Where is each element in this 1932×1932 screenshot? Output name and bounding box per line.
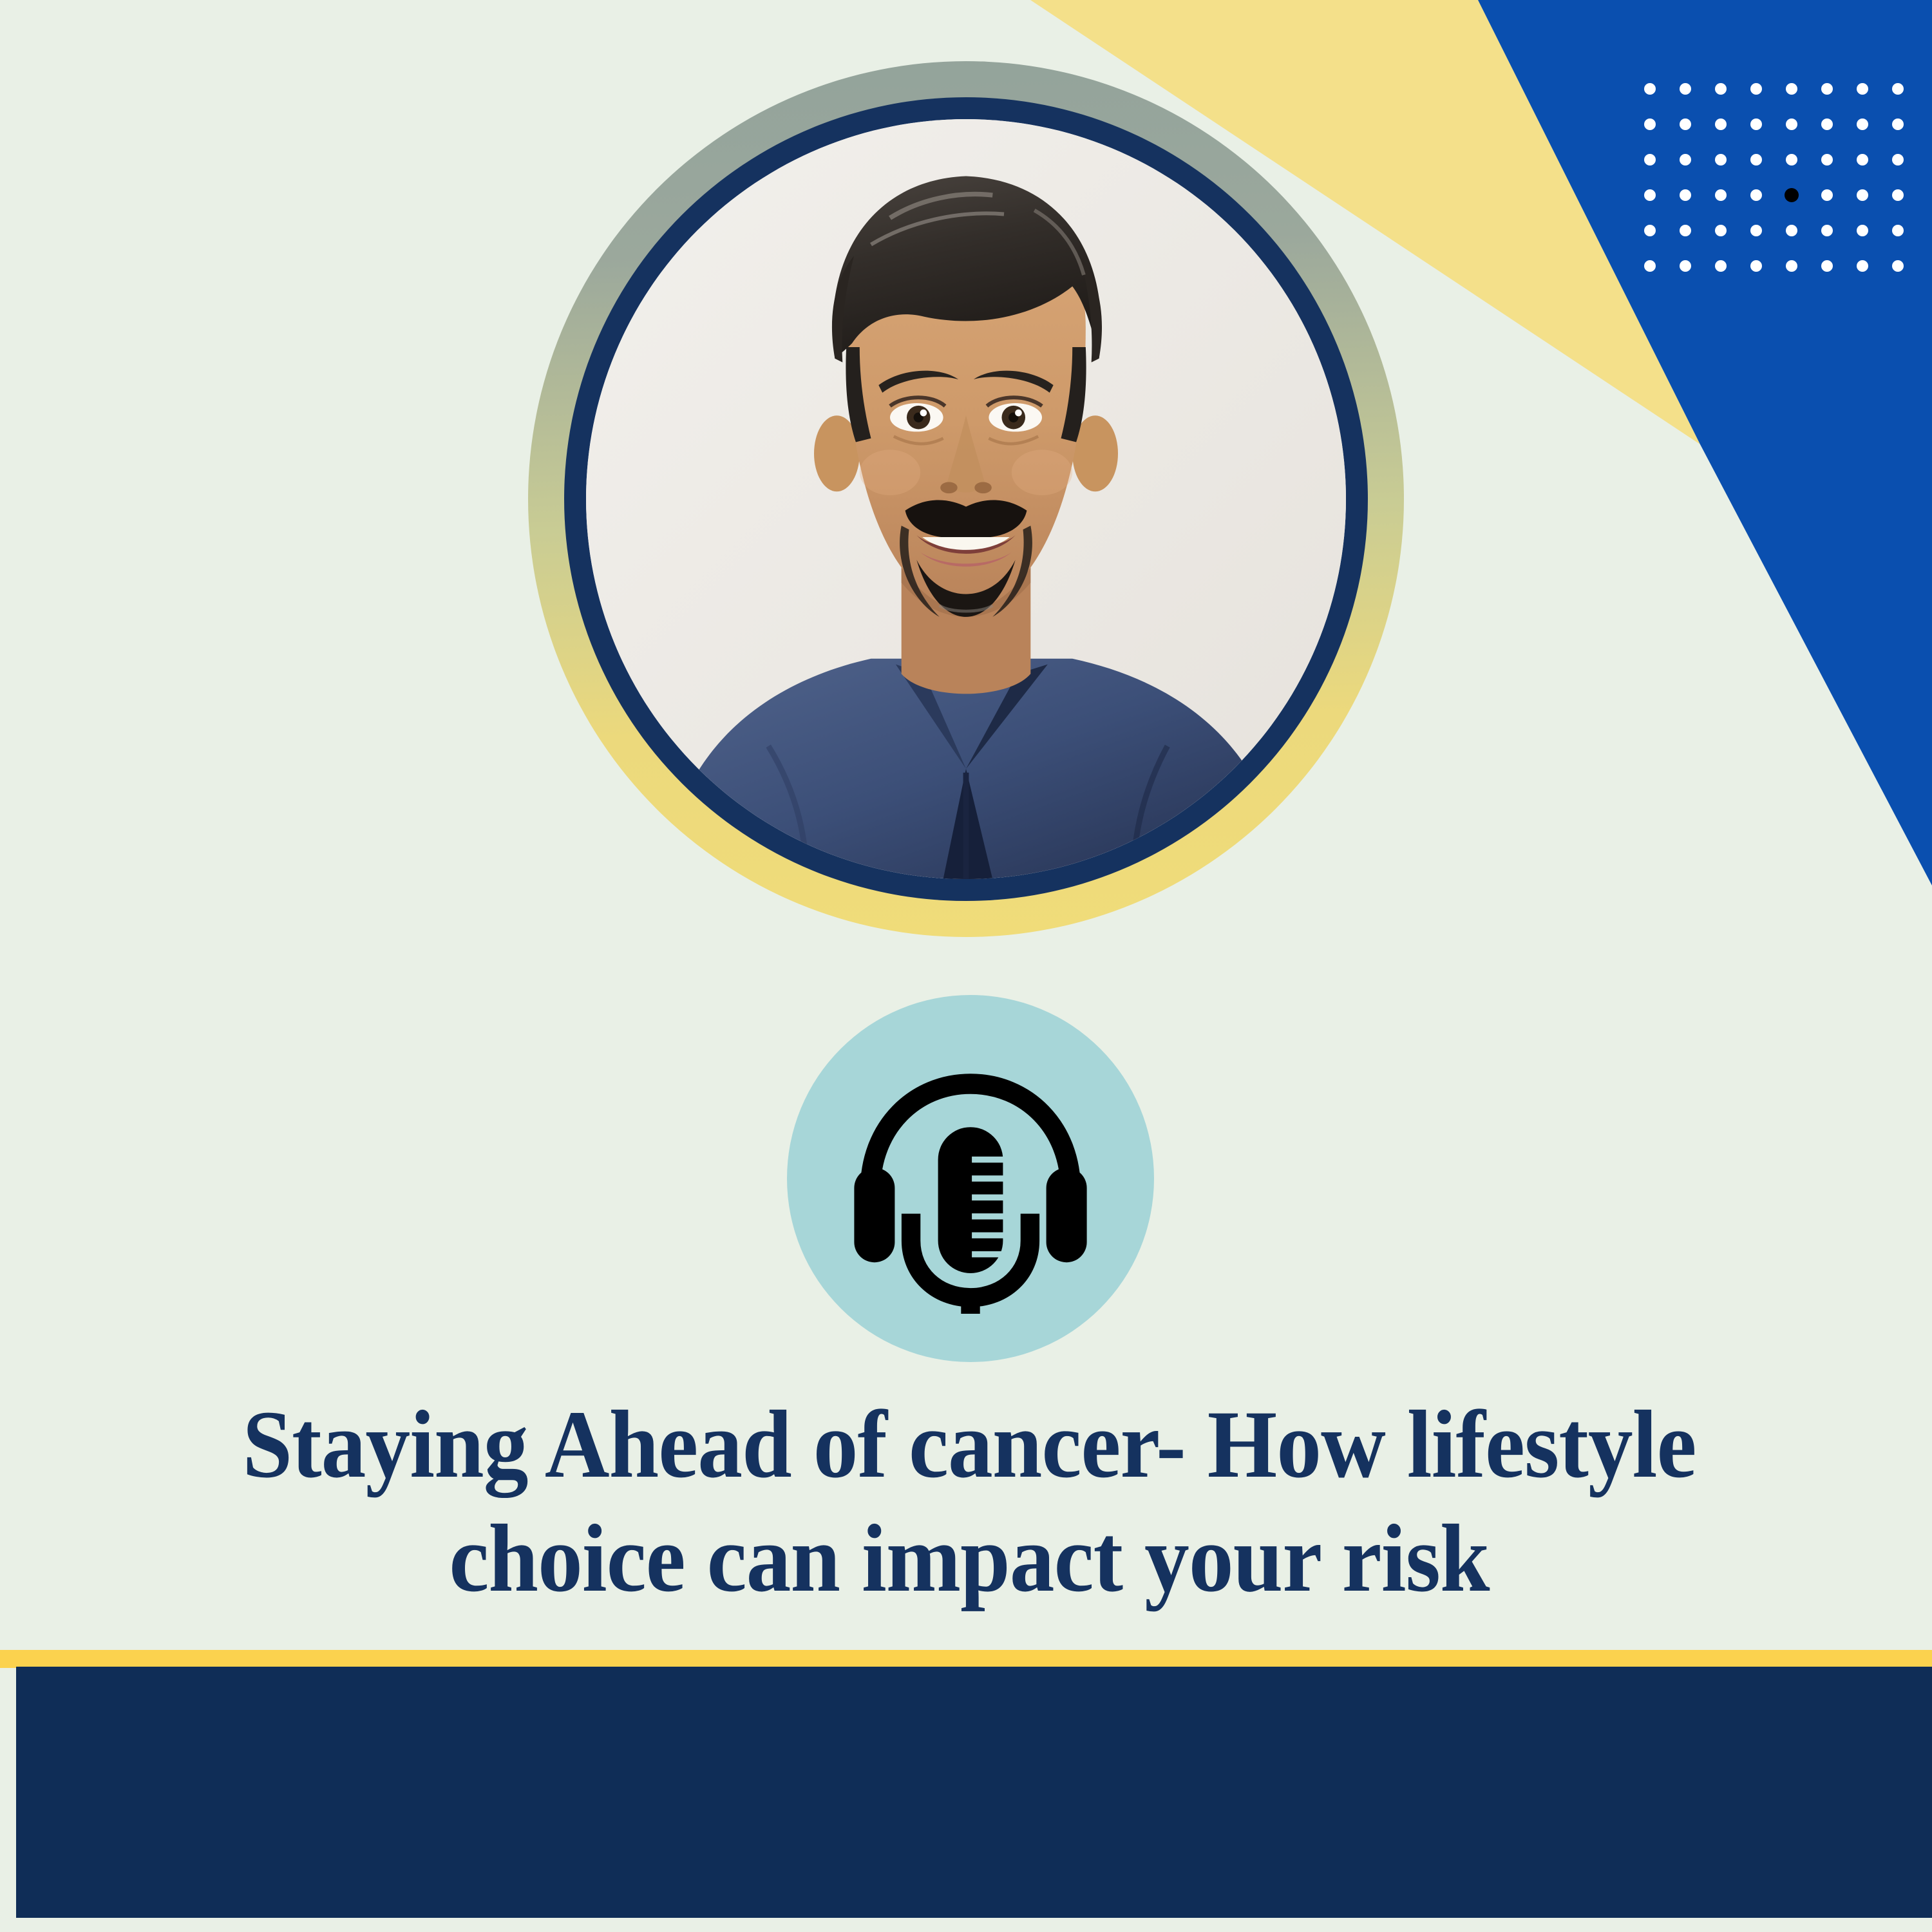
dot-grid-dots: [1644, 83, 1904, 272]
dot-grid-accent-dot: [1785, 188, 1799, 202]
title-line-2: choice can impact your risk: [134, 1502, 1805, 1616]
blue-wedge: [1478, 0, 1932, 885]
speaker-portrait-photo: [586, 119, 1346, 879]
portrait-inner-ring: [564, 97, 1368, 901]
portrait-outer-ring: [528, 61, 1404, 937]
microphone-headphones-icon: [835, 1043, 1106, 1314]
accent-stripe: [0, 1650, 1932, 1668]
podcast-icon-badge: [787, 995, 1154, 1362]
footer-banner: By Dr. Murali Subramanian: [16, 1667, 1932, 1918]
podcast-cover-poster: Staying Ahead of cancer- How lifestyle c…: [0, 0, 1932, 1932]
episode-title: Staying Ahead of cancer- How lifestyle c…: [71, 1388, 1868, 1616]
title-line-1: Staying Ahead of cancer- How lifestyle: [134, 1388, 1805, 1502]
portrait-illustration: [586, 119, 1346, 879]
